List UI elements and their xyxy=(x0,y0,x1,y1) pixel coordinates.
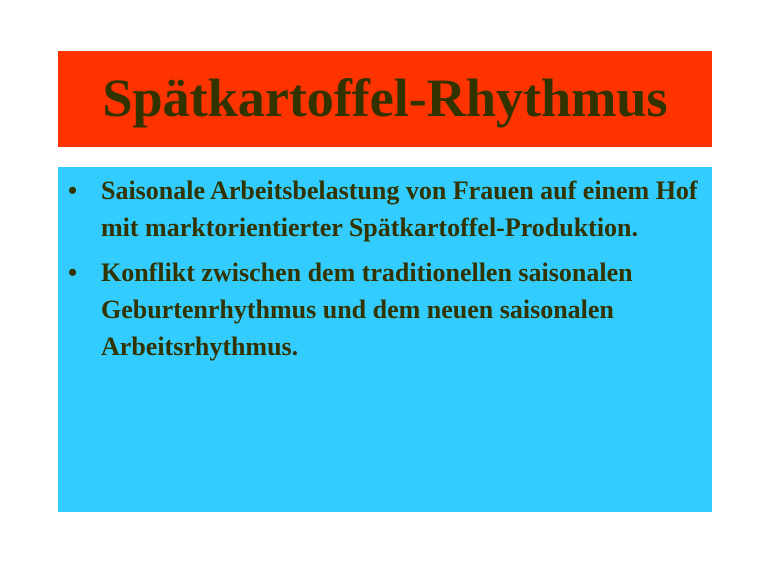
slide-title-box: Spätkartoffel-Rhythmus xyxy=(58,51,712,147)
list-item-text: Saisonale Arbeitsbelastung von Frauen au… xyxy=(101,172,702,246)
list-item: • Konflikt zwischen dem traditionellen s… xyxy=(68,254,702,365)
slide-title: Spätkartoffel-Rhythmus xyxy=(102,71,667,126)
bullet-point-icon: • xyxy=(68,172,88,209)
presentation-slide: Spätkartoffel-Rhythmus • Saisonale Arbei… xyxy=(0,0,768,576)
list-item: • Saisonale Arbeitsbelastung von Frauen … xyxy=(68,172,702,246)
slide-content-box: • Saisonale Arbeitsbelastung von Frauen … xyxy=(58,167,712,512)
list-item-text: Konflikt zwischen dem traditionellen sai… xyxy=(101,254,702,365)
bullet-list: • Saisonale Arbeitsbelastung von Frauen … xyxy=(58,167,712,365)
bullet-point-icon: • xyxy=(68,254,88,291)
